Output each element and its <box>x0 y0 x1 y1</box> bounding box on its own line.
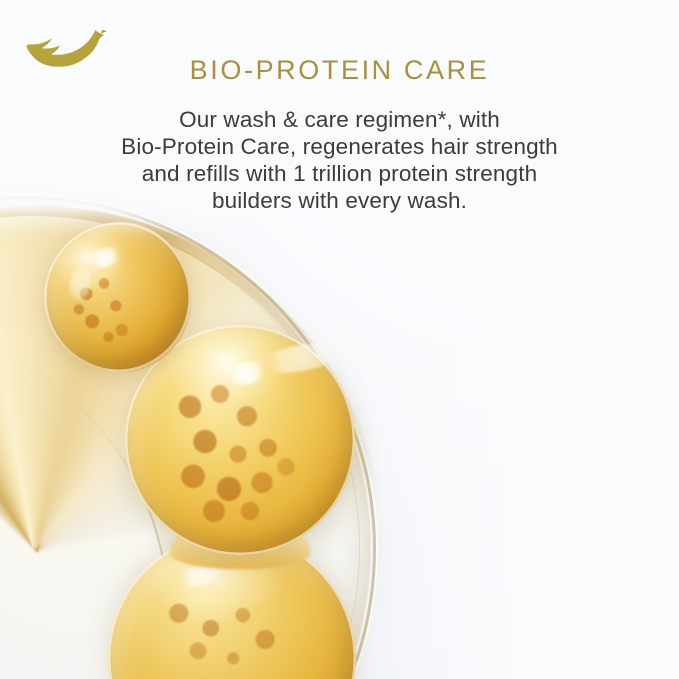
ad-creative-canvas: BIO-PROTEIN CARE Our wash & care regimen… <box>0 0 679 679</box>
description-line-4: builders with every wash. <box>60 187 620 214</box>
page-title: BIO-PROTEIN CARE <box>0 57 679 84</box>
description-line-3: and refills with 1 trillion protein stre… <box>60 160 620 187</box>
description-line-1: Our wash & care regimen*, with <box>60 106 620 133</box>
copy-block: BIO-PROTEIN CARE Our wash & care regimen… <box>0 0 679 679</box>
description-line-2: Bio-Protein Care, regenerates hair stren… <box>60 133 620 160</box>
description-text: Our wash & care regimen*, with Bio-Prote… <box>60 106 620 214</box>
